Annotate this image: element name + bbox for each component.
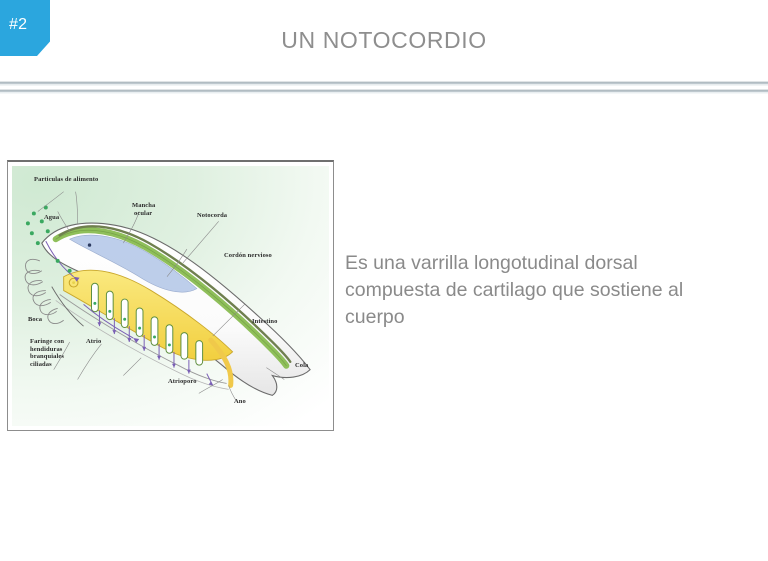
figure-label-mancha-ocular-line2: ocular [134,210,152,218]
figure-label-boca: Boca [28,316,42,324]
figure-label-mancha-ocular-line1: Mancha [132,202,155,210]
oral-cirri [25,259,64,323]
anfioxo-diagram: Particulas de alimento Agua Mancha ocula… [12,166,329,426]
page-title: UN NOTOCORDIO [0,27,768,54]
eyespot-dot [88,243,91,246]
figure-label-atrio: Atrio [86,338,101,346]
figure-label-faringe: Faringe con hendiduras branquiales cilia… [30,338,80,368]
slide-header: #2 UN NOTOCORDIO [0,0,768,82]
figure-label-atrioporo: Atrioporo [168,378,197,386]
body-text: Es una varrilla longotudinal dorsal comp… [345,250,715,331]
figure-label-cola: Cola [295,362,308,370]
figure-label-cordon-nervioso: Cordón nervioso [224,252,272,260]
divider-line-bottom-shadow [0,92,768,94]
anfioxo-illustration [12,166,329,426]
figure-label-notocorda: Notocorda [197,212,227,220]
header-divider [0,80,768,96]
slide-root: #2 UN NOTOCORDIO [0,0,768,561]
divider-line-top-shadow [0,84,768,86]
slide-content: Particulas de alimento Agua Mancha ocula… [0,96,768,561]
figure-frame: Particulas de alimento Agua Mancha ocula… [7,160,334,431]
figure-label-agua: Agua [44,214,59,222]
figure-label-intestino: Intestino [252,318,277,326]
figure-label-ano: Ano [234,398,246,406]
figure-label-particulas: Particulas de alimento [34,176,98,184]
